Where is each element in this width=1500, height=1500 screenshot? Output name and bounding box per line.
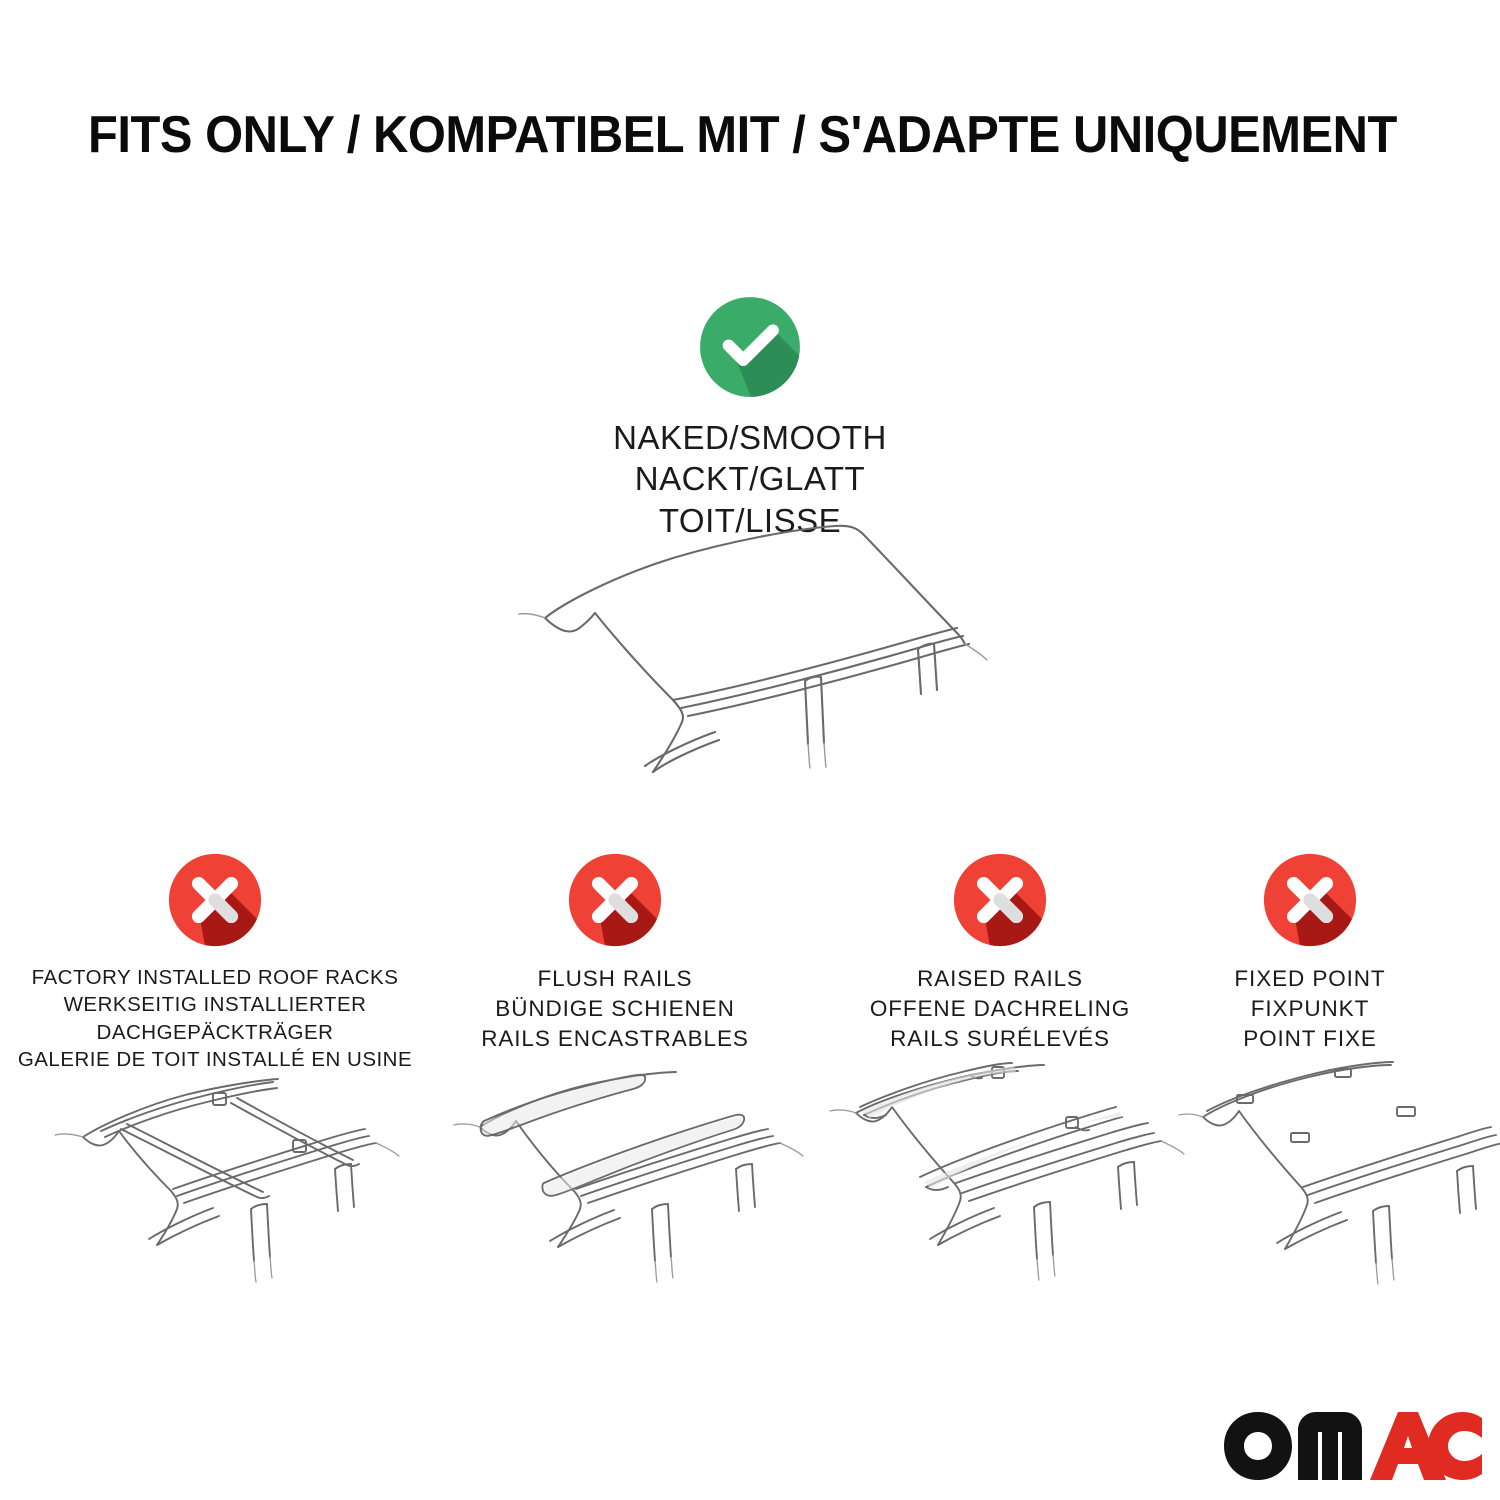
caption-line-de: BÜNDIGE SCHIENEN bbox=[420, 994, 810, 1024]
naked-smooth-roof-illustration bbox=[505, 510, 1025, 800]
incompatible-item-factory-roof-racks: FACTORY INSTALLED ROOF RACKS WERKSEITIG … bbox=[15, 852, 415, 1073]
incompatible-item-fixed-point: FIXED POINT FIXPUNKT POINT FIXE bbox=[1160, 852, 1460, 1054]
caption-line-fr: POINT FIXE bbox=[1160, 1024, 1460, 1054]
fitment-guide-page: FITS ONLY / KOMPATIBEL MIT / S'ADAPTE UN… bbox=[0, 0, 1500, 1500]
incompatible-caption: FACTORY INSTALLED ROOF RACKS WERKSEITIG … bbox=[15, 964, 415, 1073]
incompatible-caption: FLUSH RAILS BÜNDIGE SCHIENEN RAILS ENCAS… bbox=[420, 964, 810, 1054]
check-circle-icon bbox=[698, 295, 802, 399]
caption-line-fr: RAILS ENCASTRABLES bbox=[420, 1024, 810, 1054]
caption-line-de: NACKT/GLATT bbox=[500, 458, 1000, 499]
caption-line-fr: RAILS SURÉLEVÉS bbox=[805, 1024, 1195, 1054]
raised-rails-illustration bbox=[820, 1065, 1190, 1295]
caption-line-de-1: WERKSEITIG INSTALLIERTER bbox=[15, 991, 415, 1018]
compatible-item-naked-smooth: NAKED/SMOOTH NACKT/GLATT TOIT/LISSE bbox=[500, 295, 1000, 541]
x-circle-icon bbox=[167, 852, 263, 948]
caption-line-de: FIXPUNKT bbox=[1160, 994, 1460, 1024]
caption-line-en: FLUSH RAILS bbox=[420, 964, 810, 994]
flush-rails-illustration bbox=[440, 1065, 810, 1295]
omac-logo bbox=[1222, 1408, 1484, 1480]
caption-line-en: FACTORY INSTALLED ROOF RACKS bbox=[15, 964, 415, 991]
caption-line-en: NAKED/SMOOTH bbox=[500, 417, 1000, 458]
fixed-point-illustration bbox=[1175, 1065, 1500, 1295]
factory-roof-rack-illustration bbox=[35, 1065, 435, 1295]
caption-line-de: OFFENE DACHRELING bbox=[805, 994, 1195, 1024]
page-title: FITS ONLY / KOMPATIBEL MIT / S'ADAPTE UN… bbox=[88, 108, 1338, 163]
incompatible-caption: RAISED RAILS OFFENE DACHRELING RAILS SUR… bbox=[805, 964, 1195, 1054]
caption-line-de-2: DACHGEPÄCKTRÄGER bbox=[15, 1019, 415, 1046]
incompatible-caption: FIXED POINT FIXPUNKT POINT FIXE bbox=[1160, 964, 1460, 1054]
x-circle-icon bbox=[567, 852, 663, 948]
caption-line-en: FIXED POINT bbox=[1160, 964, 1460, 994]
incompatible-item-flush-rails: FLUSH RAILS BÜNDIGE SCHIENEN RAILS ENCAS… bbox=[420, 852, 810, 1054]
incompatible-item-raised-rails: RAISED RAILS OFFENE DACHRELING RAILS SUR… bbox=[805, 852, 1195, 1054]
caption-line-en: RAISED RAILS bbox=[805, 964, 1195, 994]
x-circle-icon bbox=[1262, 852, 1358, 948]
x-circle-icon bbox=[952, 852, 1048, 948]
